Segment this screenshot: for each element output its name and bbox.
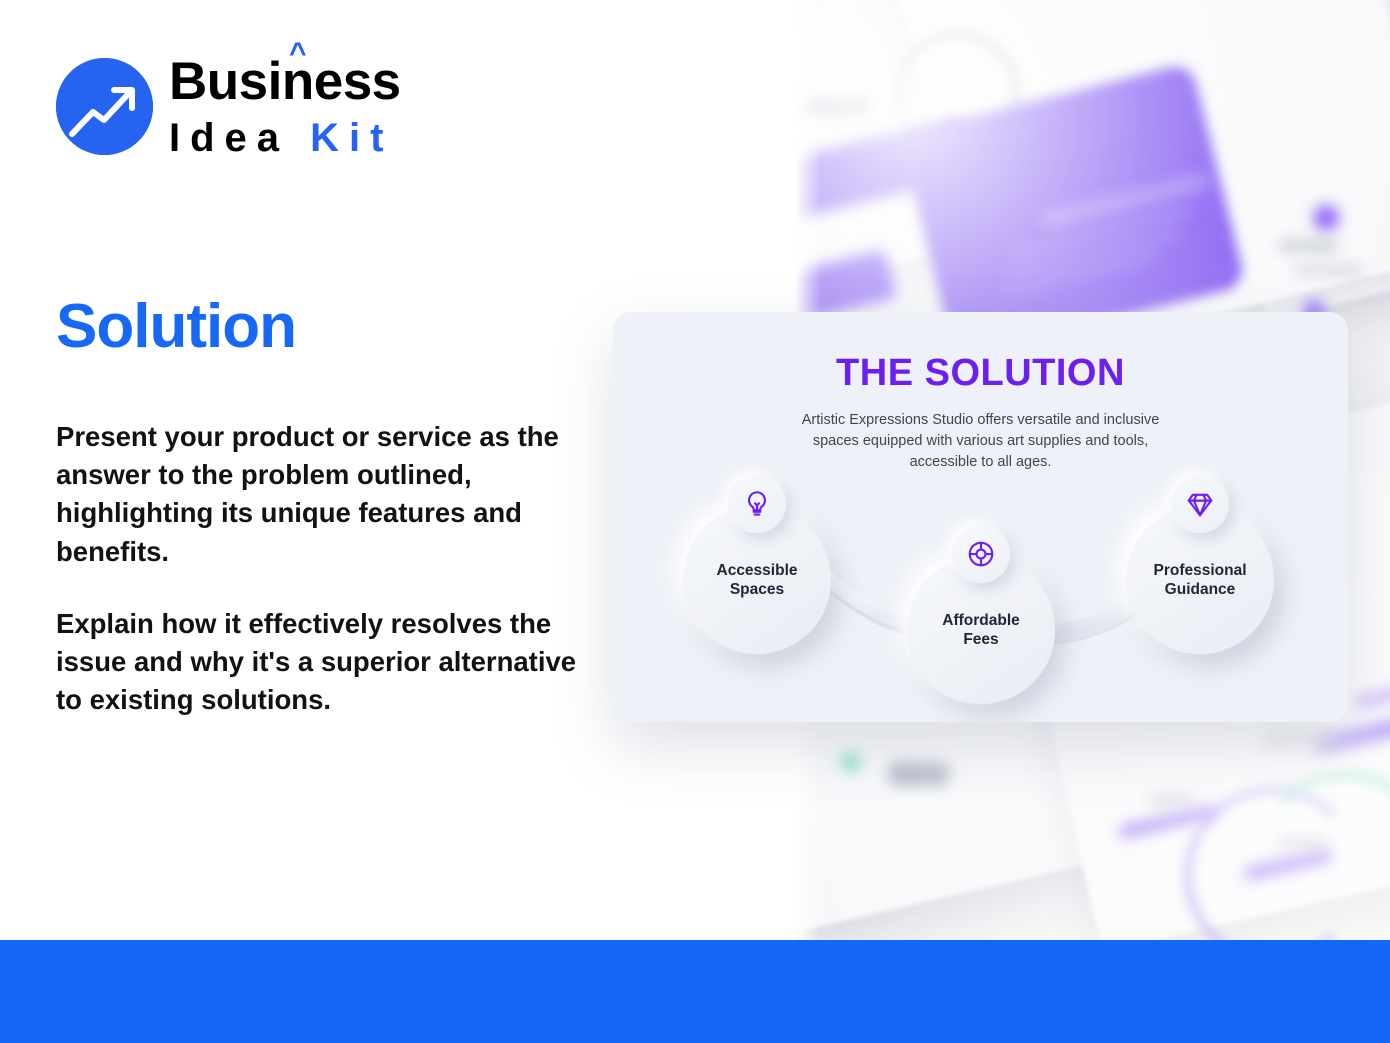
growth-arrow-icon (56, 58, 153, 155)
brand-name-line2: Idea Kit (169, 118, 401, 158)
body-copy: Present your product or service as the a… (56, 418, 586, 720)
diamond-icon (1171, 475, 1229, 533)
brand-logo[interactable]: Business ^ Idea Kit (56, 55, 401, 158)
card-title: THE SOLUTION (613, 352, 1348, 395)
page-title: Solution (56, 296, 296, 358)
circumflex-accent-icon: ^ (289, 39, 306, 69)
body-paragraph-2: Explain how it effectively resolves the … (56, 605, 586, 720)
footer-bar (0, 940, 1390, 1043)
slide-canvas: Business ^ Idea Kit Solution Present you… (0, 0, 1390, 1043)
body-paragraph-1: Present your product or service as the a… (56, 418, 586, 571)
brand-kit-text: Kit (310, 116, 393, 160)
solution-node-label: Professional Guidance (1153, 561, 1246, 600)
card-description: Artistic Expressions Studio offers versa… (801, 410, 1161, 473)
brand-name-line1: Business ^ (169, 55, 401, 108)
solution-node-label: Affordable Fees (942, 611, 1020, 650)
lifebuoy-icon (952, 525, 1010, 583)
solution-card: THE SOLUTION Artistic Expressions Studio… (613, 312, 1348, 722)
lightbulb-icon (728, 475, 786, 533)
brand-name-text: Business (169, 52, 401, 111)
solution-node-label: Accessible Spaces (717, 561, 798, 600)
brand-idea-text: Idea (169, 116, 289, 160)
